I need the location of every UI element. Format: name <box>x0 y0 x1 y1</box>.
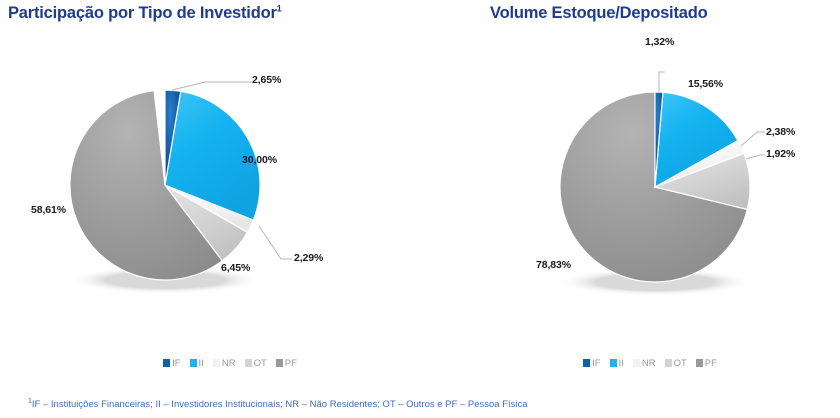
legend-label-left-ii: II <box>199 359 204 369</box>
leader-line-right-nr <box>741 132 765 146</box>
data-label-left-nr: 2,29% <box>294 252 323 264</box>
chart-panel-participacao: Participação por Tipo de Investidor1 <box>0 0 460 390</box>
data-label-right-pf: 78,83% <box>536 259 571 271</box>
data-label-right-ii: 15,56% <box>688 78 723 90</box>
legend-item-right-if[interactable]: IF <box>583 359 600 369</box>
chart-title-left-superscript: 1 <box>277 4 282 14</box>
pie-chart-right <box>460 28 840 358</box>
pie-stage-left: 2,65% 30,00% 2,29% 6,45% 58,61% <box>0 28 460 358</box>
legend-swatch-ii-icon <box>610 359 617 367</box>
data-label-left-if: 2,65% <box>252 74 281 86</box>
leader-line-left-nr <box>259 226 292 259</box>
data-label-right-if: 1,32% <box>645 36 674 48</box>
legend-swatch-if-icon <box>583 359 590 367</box>
legend-item-right-pf[interactable]: PF <box>696 359 717 369</box>
legend-swatch-if-icon <box>163 359 170 367</box>
legend-item-left-nr[interactable]: NR <box>213 359 236 369</box>
data-label-right-nr: 2,38% <box>766 126 795 138</box>
legend-label-left-nr: NR <box>222 359 236 369</box>
legend-label-left-if: IF <box>172 359 180 369</box>
leader-line-right-ot <box>746 155 765 159</box>
legend-swatch-pf-icon <box>276 359 283 367</box>
data-label-left-pf: 58,61% <box>31 204 66 216</box>
legend-label-right-if: IF <box>592 359 600 369</box>
legend-swatch-nr-icon <box>633 359 640 367</box>
legend-item-right-ii[interactable]: II <box>610 359 624 369</box>
legend-swatch-ot-icon <box>665 359 672 367</box>
legend-item-left-ot[interactable]: OT <box>245 359 267 369</box>
legend-label-right-ot: OT <box>674 359 687 369</box>
legend-item-right-nr[interactable]: NR <box>633 359 656 369</box>
footnote: 1IF – Instituições Financeiras; II – Inv… <box>28 399 528 410</box>
leader-line-left-if <box>172 82 252 90</box>
legend-item-left-if[interactable]: IF <box>163 359 180 369</box>
chart-title-right: Volume Estoque/Depositado <box>490 4 707 23</box>
pie-stage-right: 1,32% 15,56% 2,38% 1,92% 78,83% <box>460 28 840 358</box>
legend-label-right-ii: II <box>619 359 624 369</box>
chart-panel-volume: Volume Estoque/Depositado <box>460 0 840 390</box>
legend-item-left-ii[interactable]: II <box>190 359 204 369</box>
chart-title-left: Participação por Tipo de Investidor1 <box>8 4 282 23</box>
chart-title-left-text: Participação por Tipo de Investidor <box>8 4 277 22</box>
data-label-left-ot: 6,45% <box>221 262 250 274</box>
legend-swatch-ii-icon <box>190 359 197 367</box>
legend-item-left-pf[interactable]: PF <box>276 359 297 369</box>
pie-chart-left <box>0 28 460 358</box>
legend-label-right-pf: PF <box>705 359 717 369</box>
legend-item-right-ot[interactable]: OT <box>665 359 687 369</box>
legend-swatch-nr-icon <box>213 359 220 367</box>
legend-swatch-ot-icon <box>245 359 252 367</box>
legend-label-left-ot: OT <box>254 359 267 369</box>
chart-legend-left: IF II NR OT PF <box>0 359 460 369</box>
legend-swatch-pf-icon <box>696 359 703 367</box>
legend-label-left-pf: PF <box>285 359 297 369</box>
footnote-text: IF – Instituições Financeiras; II – Inve… <box>32 399 528 410</box>
data-label-left-ii: 30,00% <box>242 154 277 166</box>
chart-title-right-text: Volume Estoque/Depositado <box>490 4 707 22</box>
chart-legend-right: IF II NR OT PF <box>460 359 840 369</box>
legend-label-right-nr: NR <box>642 359 656 369</box>
leader-line-right-if <box>659 72 665 92</box>
data-label-right-ot: 1,92% <box>766 148 795 160</box>
